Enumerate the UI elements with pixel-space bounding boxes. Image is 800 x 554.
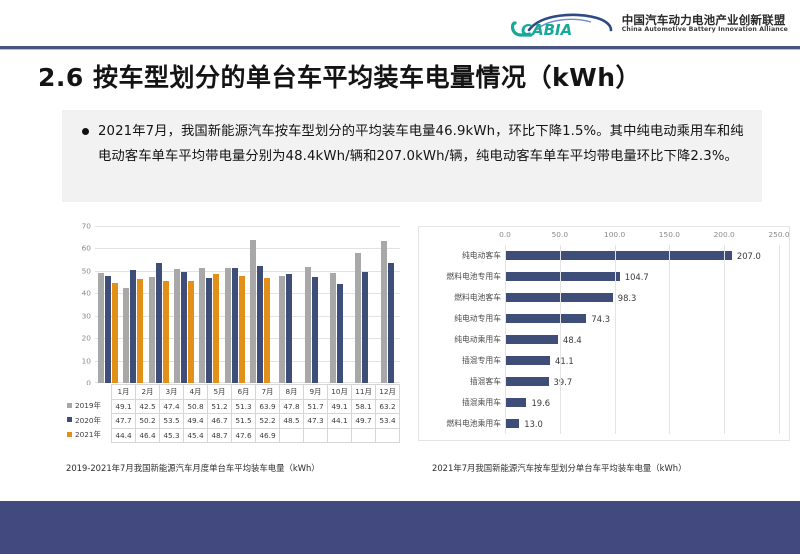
brand-text: 中国汽车动力电池产业创新联盟 China Automotive Battery … bbox=[622, 14, 788, 34]
column-bar bbox=[279, 276, 285, 383]
bar-value-label: 74.3 bbox=[591, 314, 610, 324]
table-column-header: 8月 bbox=[280, 385, 304, 400]
svg-text:CABIA: CABIA bbox=[521, 21, 572, 39]
legend-swatch-icon bbox=[67, 403, 72, 408]
bar-chart-rows: 纯电动客车207.0燃料电池专用车104.7燃料电池客车98.3纯电动专用车74… bbox=[505, 245, 779, 434]
column-bar bbox=[112, 283, 118, 383]
column-group bbox=[349, 226, 374, 383]
table-column-header: 7月 bbox=[256, 385, 280, 400]
table-cell bbox=[376, 428, 400, 443]
table-cell: 45.3 bbox=[160, 428, 184, 443]
table-column-header: 10月 bbox=[328, 385, 352, 400]
table-cell: 42.5 bbox=[136, 399, 160, 414]
column-bar bbox=[232, 268, 238, 384]
slide-root: CABIA 中国汽车动力电池产业创新联盟 China Automotive Ba… bbox=[0, 0, 800, 554]
column-bar bbox=[163, 281, 169, 383]
table-cell bbox=[304, 428, 328, 443]
table-cell: 49.1 bbox=[328, 399, 352, 414]
column-group bbox=[375, 226, 400, 383]
column-group bbox=[298, 226, 323, 383]
table-cell: 49.4 bbox=[184, 414, 208, 429]
table-cell: 51.7 bbox=[304, 399, 328, 414]
table-cell: 53.4 bbox=[376, 414, 400, 429]
gridline bbox=[505, 245, 506, 434]
column-group bbox=[324, 226, 349, 383]
horizontal-bar bbox=[505, 251, 732, 260]
table-cell: 51.2 bbox=[208, 399, 232, 414]
column-chart-data-table: 1月2月3月4月5月6月7月8月9月10月11月12月2019年49.142.5… bbox=[64, 384, 400, 443]
gridline bbox=[724, 245, 725, 434]
table-cell: 47.6 bbox=[232, 428, 256, 443]
bar-chart-row: 燃料电池专用车104.7 bbox=[505, 271, 779, 282]
table-column-header: 12月 bbox=[376, 385, 400, 400]
brand-name-en: China Automotive Battery Innovation Alli… bbox=[622, 27, 788, 34]
x-tick-label: 200.0 bbox=[714, 230, 735, 239]
column-bar bbox=[206, 278, 212, 383]
column-bar bbox=[337, 284, 343, 383]
series-legend-label: 2021年 bbox=[64, 428, 112, 443]
column-bar bbox=[181, 272, 187, 383]
bar-chart-row: 燃料电池客车98.3 bbox=[505, 292, 779, 303]
gridline bbox=[779, 245, 780, 434]
table-column-header: 4月 bbox=[184, 385, 208, 400]
table-column-header: 2月 bbox=[136, 385, 160, 400]
table-cell: 46.9 bbox=[256, 428, 280, 443]
category-label: 纯电动乘用车 bbox=[454, 334, 501, 345]
y-tick-label: 20 bbox=[82, 334, 91, 343]
column-bar bbox=[305, 267, 311, 383]
bar-chart-row: 插混专用车41.1 bbox=[505, 355, 779, 366]
column-chart-y-axis: 010203040506070 bbox=[64, 226, 95, 383]
column-group bbox=[171, 226, 196, 383]
x-tick-label: 250.0 bbox=[768, 230, 789, 239]
horizontal-bar bbox=[505, 398, 526, 407]
table-cell: 50.2 bbox=[136, 414, 160, 429]
bar-value-label: 104.7 bbox=[625, 272, 649, 282]
category-label: 纯电动专用车 bbox=[454, 313, 501, 324]
column-group bbox=[273, 226, 298, 383]
table-cell: 44.4 bbox=[112, 428, 136, 443]
bar-chart-row: 燃料电池乘用车13.0 bbox=[505, 418, 779, 429]
column-chart-plot: 010203040506070 bbox=[64, 226, 400, 383]
bar-value-label: 13.0 bbox=[524, 419, 543, 429]
table-row: 2020年47.750.253.549.446.751.552.248.547.… bbox=[64, 414, 400, 429]
table-cell: 45.4 bbox=[184, 428, 208, 443]
column-bar bbox=[123, 288, 129, 383]
column-bar bbox=[388, 263, 394, 383]
series-legend-label: 2020年 bbox=[64, 414, 112, 429]
bar-chart-row: 纯电动客车207.0 bbox=[505, 250, 779, 261]
column-group bbox=[197, 226, 222, 383]
gridline bbox=[669, 245, 670, 434]
y-tick-label: 50 bbox=[82, 266, 91, 275]
brand-lockup: CABIA 中国汽车动力电池产业创新联盟 China Automotive Ba… bbox=[511, 8, 788, 40]
column-bar bbox=[250, 240, 256, 383]
column-group bbox=[146, 226, 171, 383]
column-group bbox=[95, 226, 120, 383]
bar-chart-row: 纯电动专用车74.3 bbox=[505, 313, 779, 324]
y-tick-label: 10 bbox=[82, 356, 91, 365]
horizontal-bar bbox=[505, 272, 620, 281]
cabia-car-logo-icon: CABIA bbox=[511, 8, 615, 40]
column-group bbox=[222, 226, 247, 383]
table-cell: 44.1 bbox=[328, 414, 352, 429]
bar-value-label: 207.0 bbox=[737, 251, 761, 261]
bar-value-label: 48.4 bbox=[563, 335, 582, 345]
table-row: 2019年49.142.547.450.851.251.363.947.851.… bbox=[64, 399, 400, 414]
left-chart-caption: 2019-2021年7月我国新能源汽车月度单台车平均装车电量（kWh） bbox=[66, 462, 320, 474]
category-label: 纯电动客车 bbox=[462, 250, 501, 261]
column-bar bbox=[156, 263, 162, 383]
table-column-header: 3月 bbox=[160, 385, 184, 400]
table-cell: 48.7 bbox=[208, 428, 232, 443]
table-column-header: 11月 bbox=[352, 385, 376, 400]
column-bar bbox=[381, 241, 387, 383]
x-tick-label: 0.0 bbox=[499, 230, 511, 239]
column-bar bbox=[330, 273, 336, 383]
table-cell: 58.1 bbox=[352, 399, 376, 414]
bar-value-label: 98.3 bbox=[618, 293, 637, 303]
table-cell: 52.2 bbox=[256, 414, 280, 429]
bar-value-label: 41.1 bbox=[555, 356, 574, 366]
column-bar bbox=[355, 253, 361, 383]
gridline bbox=[615, 245, 616, 434]
table-cell: 63.2 bbox=[376, 399, 400, 414]
table-cell: 47.4 bbox=[160, 399, 184, 414]
table-cell: 63.9 bbox=[256, 399, 280, 414]
page-title: 2.6 按车型划分的单台车平均装车电量情况（kWh） bbox=[38, 58, 641, 94]
bar-chart-row: 纯电动乘用车48.4 bbox=[505, 334, 779, 345]
column-group bbox=[120, 226, 145, 383]
gridline bbox=[560, 245, 561, 434]
table-cell: 47.8 bbox=[280, 399, 304, 414]
column-bar bbox=[286, 274, 292, 383]
summary-callout: 2021年7月，我国新能源汽车按车型划分的平均装车电量46.9kWh，环比下降1… bbox=[62, 110, 762, 202]
table-cell: 49.1 bbox=[112, 399, 136, 414]
column-chart-bars bbox=[95, 226, 400, 383]
by-vehicle-type-bar-chart: 0.050.0100.0150.0200.0250.0 纯电动客车207.0燃料… bbox=[418, 226, 790, 450]
bar-chart-row: 插混客车39.7 bbox=[505, 376, 779, 387]
bar-chart-row: 插混乘用车19.6 bbox=[505, 397, 779, 408]
column-bar bbox=[362, 272, 368, 383]
series-legend-label: 2019年 bbox=[64, 399, 112, 414]
slide-header: CABIA 中国汽车动力电池产业创新联盟 China Automotive Ba… bbox=[0, 0, 800, 48]
table-column-header: 6月 bbox=[232, 385, 256, 400]
table-column-header: 1月 bbox=[112, 385, 136, 400]
legend-swatch-icon bbox=[67, 417, 72, 422]
y-tick-label: 40 bbox=[82, 289, 91, 298]
bar-value-label: 19.6 bbox=[531, 398, 550, 408]
x-tick-label: 100.0 bbox=[604, 230, 625, 239]
column-bar bbox=[312, 277, 318, 383]
bar-value-label: 39.7 bbox=[554, 377, 573, 387]
y-tick-label: 60 bbox=[82, 244, 91, 253]
category-label: 燃料电池客车 bbox=[454, 292, 501, 303]
table-cell bbox=[352, 428, 376, 443]
table-cell: 50.8 bbox=[184, 399, 208, 414]
column-bar bbox=[188, 281, 194, 383]
table-cell: 51.3 bbox=[232, 399, 256, 414]
header-divider-thin bbox=[0, 49, 800, 50]
table-column-header: 9月 bbox=[304, 385, 328, 400]
table-corner-cell bbox=[64, 385, 112, 400]
column-bar bbox=[105, 276, 111, 383]
table-cell: 51.5 bbox=[232, 414, 256, 429]
column-bar bbox=[199, 268, 205, 383]
horizontal-bar bbox=[505, 314, 586, 323]
table-cell: 47.3 bbox=[304, 414, 328, 429]
column-group bbox=[248, 226, 273, 383]
column-bar bbox=[130, 270, 136, 383]
column-bar bbox=[174, 269, 180, 383]
table-row: 2021年44.446.445.345.448.747.646.9 bbox=[64, 428, 400, 443]
column-bar bbox=[213, 274, 219, 383]
column-bar bbox=[239, 276, 245, 383]
bullet-dot-icon bbox=[82, 128, 89, 135]
y-tick-label: 70 bbox=[82, 222, 91, 231]
category-label: 插混客车 bbox=[470, 376, 501, 387]
bar-chart-frame: 0.050.0100.0150.0200.0250.0 纯电动客车207.0燃料… bbox=[418, 226, 790, 441]
column-bar bbox=[149, 277, 155, 383]
column-bar bbox=[264, 278, 270, 383]
y-tick-label: 30 bbox=[82, 311, 91, 320]
table-cell bbox=[280, 428, 304, 443]
slide-footer-bar bbox=[0, 501, 800, 554]
bar-chart-x-axis: 0.050.0100.0150.0200.0250.0 bbox=[505, 230, 779, 243]
right-chart-caption: 2021年7月我国新能源汽车按车型划分单台车平均装车电量（kWh） bbox=[432, 462, 686, 474]
table-cell: 47.7 bbox=[112, 414, 136, 429]
table-cell: 49.7 bbox=[352, 414, 376, 429]
table-cell: 53.5 bbox=[160, 414, 184, 429]
x-tick-label: 50.0 bbox=[552, 230, 568, 239]
horizontal-bar bbox=[505, 335, 558, 344]
horizontal-bar bbox=[505, 377, 549, 386]
horizontal-bar bbox=[505, 356, 550, 365]
legend-swatch-icon bbox=[67, 432, 72, 437]
category-label: 燃料电池乘用车 bbox=[446, 418, 501, 429]
table-row: 1月2月3月4月5月6月7月8月9月10月11月12月 bbox=[64, 385, 400, 400]
table-column-header: 5月 bbox=[208, 385, 232, 400]
table-cell: 46.7 bbox=[208, 414, 232, 429]
monthly-average-column-chart: 010203040506070 1月2月3月4月5月6月7月8月9月10月11月… bbox=[64, 226, 400, 450]
column-bar bbox=[257, 266, 263, 383]
column-bar bbox=[225, 268, 231, 383]
summary-text: 2021年7月，我国新能源汽车按车型划分的平均装车电量46.9kWh，环比下降1… bbox=[98, 120, 746, 169]
bar-chart-plot: 纯电动客车207.0燃料电池专用车104.7燃料电池客车98.3纯电动专用车74… bbox=[505, 245, 779, 434]
table-cell: 48.5 bbox=[280, 414, 304, 429]
table-cell: 46.4 bbox=[136, 428, 160, 443]
category-label: 燃料电池专用车 bbox=[446, 271, 501, 282]
category-label: 插混乘用车 bbox=[462, 397, 501, 408]
horizontal-bar bbox=[505, 419, 519, 428]
x-tick-label: 150.0 bbox=[659, 230, 680, 239]
column-bar bbox=[98, 273, 104, 383]
column-bar bbox=[137, 279, 143, 383]
category-label: 插混专用车 bbox=[462, 355, 501, 366]
table-cell bbox=[328, 428, 352, 443]
